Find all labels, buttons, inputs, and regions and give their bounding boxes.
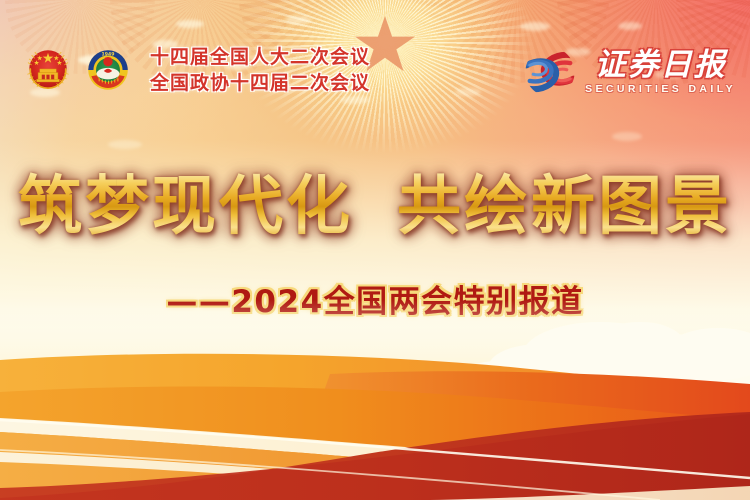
two-sessions-poster: 1949 十四届全国人大二次会议 全国政协十四届二次会议 (0, 0, 750, 500)
title-part-two: 共绘新图景 (397, 169, 732, 244)
conference-line-cppcc: 全国政协十四届二次会议 (150, 72, 370, 95)
securities-daily-chinese-name: 证券日报 (595, 49, 727, 82)
conference-line-npc: 十四届全国人大二次会议 (150, 46, 370, 69)
securities-daily-wordmark: 证券日报 SECURITIES DAILY (585, 49, 736, 96)
national-emblem-of-china-icon (22, 44, 74, 96)
securities-daily-globe-icon (521, 44, 579, 100)
securities-daily-english-name: SECURITIES DAILY (585, 83, 736, 95)
cloud-dot (108, 140, 142, 149)
conference-name-group: 十四届全国人大二次会议 全国政协十四届二次会议 (150, 45, 370, 94)
poster-main-title: 筑梦现代化共绘新图景 (0, 172, 750, 241)
cloud-dot (455, 88, 481, 96)
cloud-dot (612, 132, 642, 141)
abstract-ribbon-hills (0, 300, 750, 500)
conference-header: 1949 十四届全国人大二次会议 全国政协十四届二次会议 (22, 44, 370, 96)
cloud-dot (176, 20, 204, 28)
cppcc-emblem-icon: 1949 (82, 44, 134, 96)
cloud-dot (286, 16, 311, 24)
svg-text:1949: 1949 (102, 51, 115, 57)
cloud-dot (520, 22, 550, 31)
cloud-dot (618, 22, 642, 30)
securities-daily-logo[interactable]: 证券日报 SECURITIES DAILY (521, 44, 736, 100)
cloud-dot (340, 96, 370, 104)
title-part-one: 筑梦现代化 (18, 169, 353, 244)
